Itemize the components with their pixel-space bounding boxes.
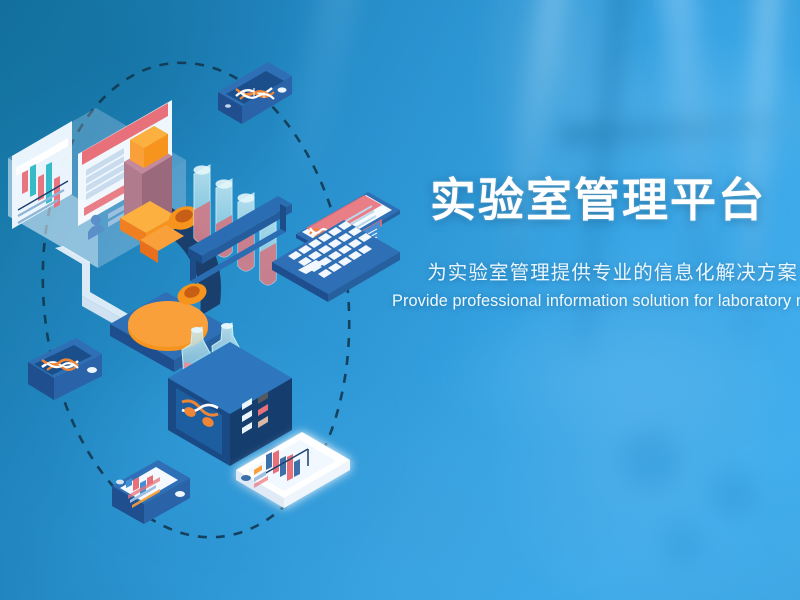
banner-text-block: 实验室管理平台 为实验室管理提供专业的信息化解决方案 Provide profe… xyxy=(392,176,800,312)
page-title: 实验室管理平台 xyxy=(392,176,800,225)
subtitle-english: Provide professional information solutio… xyxy=(392,292,800,312)
subtitle-chinese: 为实验室管理提供专业的信息化解决方案 xyxy=(392,261,800,285)
laboratory-illustration xyxy=(0,0,430,600)
smartphone-bottom xyxy=(112,460,190,524)
smartphone-top xyxy=(218,62,292,124)
banner-stage: 实验室管理平台 为实验室管理提供专业的信息化解决方案 Provide profe… xyxy=(0,0,800,600)
test-tube xyxy=(194,165,211,243)
smartphone-left xyxy=(28,338,102,400)
